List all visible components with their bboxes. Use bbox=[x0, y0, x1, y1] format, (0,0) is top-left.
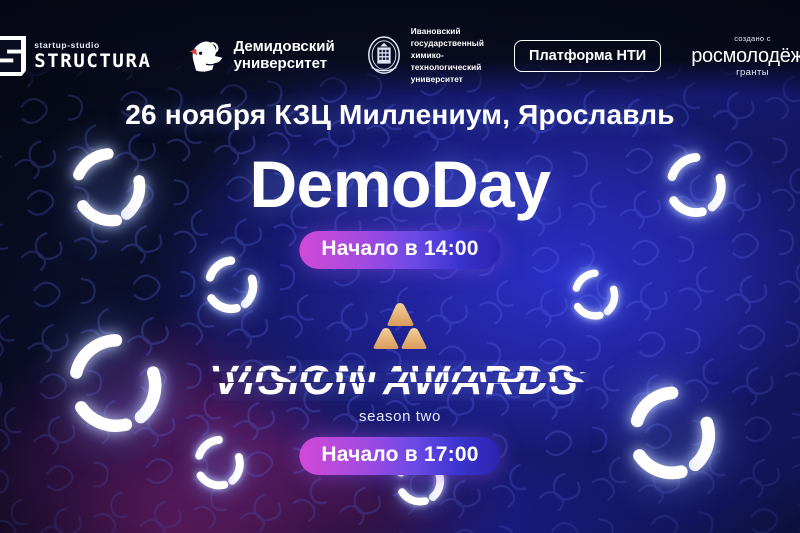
event-poster: startup-studio STRUCTURA Демидовский уни… bbox=[0, 0, 800, 533]
logo-demidov-university: Демидовский университет bbox=[186, 37, 335, 75]
rosmolodezh-wordmark: росмолодёжь bbox=[691, 46, 800, 66]
start-time-badge-1: Начало в 14:00 bbox=[299, 231, 500, 269]
three-triangles-award-icon bbox=[369, 302, 431, 354]
logo-nti-platform: Платформа НТИ bbox=[514, 40, 661, 72]
structura-wordmark: STRUCTURA bbox=[34, 52, 151, 71]
vision-awards-subtitle: season two bbox=[0, 408, 800, 425]
isuct-line2: химико-технологический bbox=[411, 50, 484, 74]
start-time-badge-2: Начало в 17:00 bbox=[299, 437, 500, 475]
vision-awards-title: VISION AWARDS VISION AWARDS VISION AWARD… bbox=[216, 360, 584, 401]
date-venue-line: 26 ноября КЗЦ Миллениум, Ярославль bbox=[0, 99, 800, 131]
logo-structura: startup-studio STRUCTURA bbox=[0, 36, 152, 76]
demidov-bear-head-icon bbox=[186, 37, 226, 75]
logo-isuct: Ивановский государственный химико-технол… bbox=[365, 26, 484, 85]
rosmolodezh-prefix: создано с bbox=[734, 35, 771, 43]
nti-platform-label: Платформа НТИ bbox=[514, 40, 661, 72]
page-title: DemoDay bbox=[0, 146, 800, 222]
rosmolodezh-grants-label: гранты bbox=[736, 68, 769, 78]
demidov-line1: Демидовский bbox=[234, 39, 335, 56]
vision-awards-block: VISION AWARDS VISION AWARDS VISION AWARD… bbox=[0, 302, 800, 425]
structura-tagline: startup-studio bbox=[34, 41, 151, 50]
logo-rosmolodezh-grants: создано с росмолодёжь гранты bbox=[691, 35, 800, 77]
isuct-line3: университет bbox=[411, 74, 484, 86]
structura-s-mark-icon bbox=[0, 36, 26, 76]
partner-logo-bar: startup-studio STRUCTURA Демидовский уни… bbox=[0, 27, 800, 85]
demidov-line2: университет bbox=[234, 56, 335, 73]
isuct-line1: Ивановский государственный bbox=[411, 26, 484, 50]
isuct-seal-icon bbox=[365, 35, 403, 77]
